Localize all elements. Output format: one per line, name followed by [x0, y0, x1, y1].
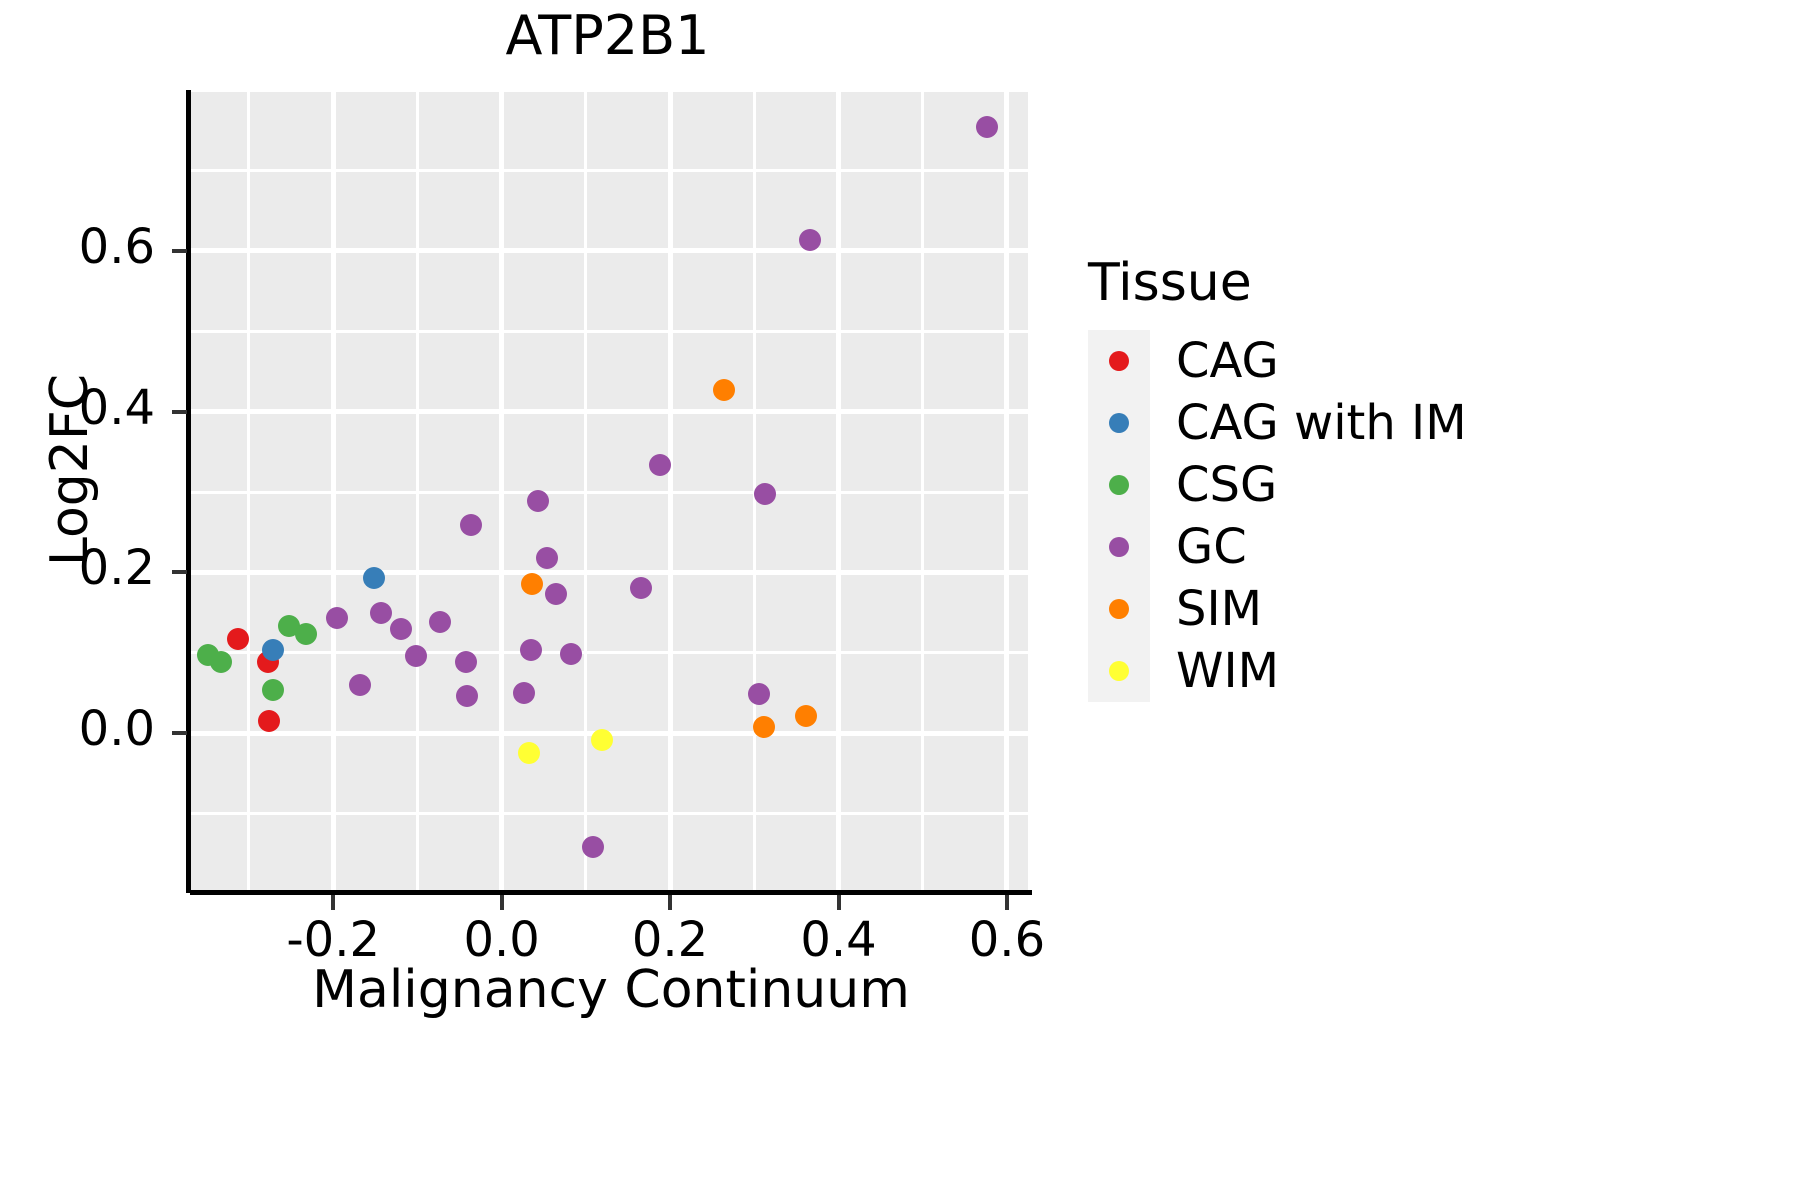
legend-dot-icon — [1109, 413, 1129, 433]
page-title: ATP2B1 — [185, 8, 1030, 65]
scatter-point-cag — [227, 628, 249, 650]
scatter-point-sim — [521, 573, 543, 595]
scatter-point-gc — [520, 639, 542, 661]
y-axis-line — [186, 90, 191, 893]
legend-item-sim[interactable]: SIM — [1088, 578, 1728, 640]
legend-item-label: WIM — [1176, 647, 1279, 695]
scatter-point-gc — [390, 618, 412, 640]
gridline-major-vertical — [331, 90, 336, 890]
gridline-major-vertical — [1004, 90, 1009, 890]
gridline-major-vertical — [836, 90, 841, 890]
scatter-point-gc — [649, 454, 671, 476]
scatter-point-gc — [460, 514, 482, 536]
legend-item-label: GC — [1176, 523, 1247, 571]
scatter-point-sim — [713, 379, 735, 401]
scatter-point-sim — [753, 716, 775, 738]
scatter-point-gc — [799, 229, 821, 251]
y-tick-mark — [172, 731, 187, 735]
scatter-point-csg — [210, 651, 232, 673]
legend-item-label: CAG — [1176, 337, 1279, 385]
x-axis-label: Malignancy Continuum — [190, 960, 1032, 1020]
scatter-point-gc — [754, 483, 776, 505]
gridline-major-horizontal — [190, 248, 1028, 253]
gridline-minor-horizontal — [190, 330, 1028, 333]
gridline-minor-horizontal — [190, 491, 1028, 494]
x-tick-mark — [500, 895, 504, 910]
scatter-point-gc — [456, 685, 478, 707]
gridline-major-vertical — [499, 90, 504, 890]
x-tick-mark — [1005, 895, 1009, 910]
legend-dot-icon — [1109, 661, 1129, 681]
scatter-point-gc — [536, 547, 558, 569]
x-tick-mark — [668, 895, 672, 910]
legend-item-gc[interactable]: GC — [1088, 516, 1728, 578]
plot-panel — [190, 90, 1028, 890]
gridline-major-vertical — [668, 90, 673, 890]
gridline-minor-horizontal — [190, 169, 1028, 172]
y-tick-mark — [172, 410, 187, 414]
legend-item-wim[interactable]: WIM — [1088, 640, 1728, 702]
scatter-point-wim — [591, 729, 613, 751]
y-tick-mark — [172, 249, 187, 253]
scatter-point-sim — [795, 705, 817, 727]
scatter-point-cag-with-im — [262, 639, 284, 661]
legend-dot-icon — [1109, 537, 1129, 557]
scatter-point-gc — [545, 583, 567, 605]
scatter-point-wim — [518, 742, 540, 764]
gridline-minor-horizontal — [190, 812, 1028, 815]
gridline-major-horizontal — [190, 570, 1028, 575]
gridline-major-horizontal — [190, 409, 1028, 414]
legend-dot-icon — [1109, 475, 1129, 495]
legend: Tissue CAGCAG with IMCSGGCSIMWIM — [1088, 255, 1728, 702]
legend-title: Tissue — [1088, 255, 1728, 312]
legend-key-swatch — [1088, 640, 1150, 702]
scatter-point-gc — [513, 682, 535, 704]
y-axis-label: Log2FC — [40, 220, 100, 720]
scatter-point-gc — [326, 607, 348, 629]
scatter-point-gc — [976, 116, 998, 138]
x-tick-mark — [837, 895, 841, 910]
scatter-point-gc — [748, 683, 770, 705]
gridline-minor-horizontal — [190, 651, 1028, 654]
legend-key-swatch — [1088, 516, 1150, 578]
scatter-point-gc — [560, 643, 582, 665]
legend-key-swatch — [1088, 330, 1150, 392]
y-tick-mark — [172, 570, 187, 574]
legend-item-csg[interactable]: CSG — [1088, 454, 1728, 516]
scatter-point-gc — [429, 611, 451, 633]
scatter-point-gc — [582, 836, 604, 858]
x-axis-line — [190, 890, 1032, 895]
legend-key-swatch — [1088, 392, 1150, 454]
scatter-point-cag-with-im — [363, 567, 385, 589]
legend-entries: CAGCAG with IMCSGGCSIMWIM — [1088, 330, 1728, 702]
legend-item-cag-with-im[interactable]: CAG with IM — [1088, 392, 1728, 454]
scatter-point-cag — [258, 710, 280, 732]
x-tick-mark — [331, 895, 335, 910]
legend-item-label: SIM — [1176, 585, 1262, 633]
legend-item-cag[interactable]: CAG — [1088, 330, 1728, 392]
legend-key-swatch — [1088, 454, 1150, 516]
legend-key-swatch — [1088, 578, 1150, 640]
scatter-point-gc — [370, 602, 392, 624]
scatter-point-gc — [455, 651, 477, 673]
legend-item-label: CAG with IM — [1176, 399, 1467, 447]
scatter-point-csg — [262, 679, 284, 701]
legend-dot-icon — [1109, 599, 1129, 619]
legend-item-label: CSG — [1176, 461, 1277, 509]
legend-dot-icon — [1109, 351, 1129, 371]
gridline-minor-horizontal — [190, 90, 1028, 92]
scatter-point-csg — [295, 623, 317, 645]
scatter-point-gc — [630, 577, 652, 599]
figure-root: ATP2B1 -0.20.00.20.40.6 0.00.20.40.6 Mal… — [0, 0, 1800, 1200]
scatter-point-gc — [527, 490, 549, 512]
scatter-point-gc — [405, 645, 427, 667]
scatter-point-gc — [349, 674, 371, 696]
